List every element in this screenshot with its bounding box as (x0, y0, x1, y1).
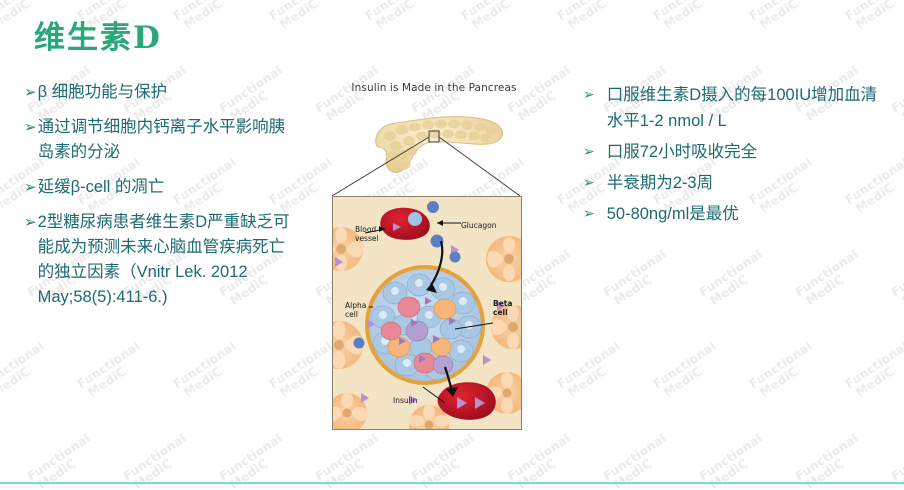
watermark-text: FunctionalMediC (555, 0, 629, 33)
bullet-text: 口服72小时吸收完全 (607, 139, 883, 165)
bullet-text: 2型糖尿病患者维生素D严重缺乏可能成为预测未来心脑血管疾病死亡的独立因素（Vni… (38, 210, 294, 310)
label-blood-vessel: Blood vessel (355, 225, 379, 243)
label-insulin: Insulin (393, 396, 418, 405)
watermark-text: FunctionalMediC (793, 248, 867, 309)
right-bullet-column: ➢ 口服维生素D摄入的每100IU增加血清水平1-2 nmol / L ➢ 口服… (583, 82, 883, 232)
list-item: ➢ 口服维生素D摄入的每100IU增加血清水平1-2 nmol / L (583, 82, 883, 134)
pancreas-figure: Insulin is Made in the Pancreas (318, 82, 550, 434)
bullet-text: 50-80ng/ml是最优 (607, 201, 883, 227)
arrow-bullet-icon: ➢ (583, 201, 595, 227)
arrow-bullet-icon: ➢ (583, 82, 595, 108)
watermark-text: FunctionalMediC (0, 340, 53, 401)
arrow-bullet-icon: ➢ (24, 80, 37, 105)
watermark-text: FunctionalMediC (651, 0, 725, 33)
list-item: ➢ 50-80ng/ml是最优 (583, 201, 883, 227)
bullet-text: 通过调节细胞内钙离子水平影响胰岛素的分泌 (38, 115, 294, 165)
list-item: ➢ 口服72小时吸收完全 (583, 139, 883, 165)
islet-inset-panel: Blood vessel Glucagon Beta cell Alpha ce… (332, 196, 522, 430)
watermark-text: FunctionalMediC (747, 340, 821, 401)
watermark-text: FunctionalMediC (697, 248, 771, 309)
footer-divider (0, 482, 904, 484)
watermark-text: FunctionalMediC (363, 0, 437, 33)
label-glucagon: Glucagon (461, 221, 496, 230)
watermark-text: FunctionalMediC (459, 0, 533, 33)
label-beta-cell: Beta cell (493, 299, 512, 317)
left-bullet-column: ➢ β 细胞功能与保护 ➢ 通过调节细胞内钙离子水平影响胰岛素的分泌 ➢ 延缓β… (24, 80, 294, 320)
watermark-text: FunctionalMediC (555, 340, 629, 401)
list-item: ➢ 通过调节细胞内钙离子水平影响胰岛素的分泌 (24, 115, 294, 165)
watermark-text: FunctionalMediC (75, 340, 149, 401)
watermark-text: FunctionalMediC (889, 248, 904, 309)
slide-canvas: FunctionalMediCFunctionalMediCFunctional… (0, 0, 904, 490)
watermark-text: FunctionalMediC (601, 248, 675, 309)
watermark-text: FunctionalMediC (267, 0, 341, 33)
watermark-text: FunctionalMediC (651, 340, 725, 401)
list-item: ➢ β 细胞功能与保护 (24, 80, 294, 105)
arrow-bullet-icon: ➢ (24, 175, 37, 200)
arrow-bullet-icon: ➢ (24, 115, 37, 140)
bullet-text: 口服维生素D摄入的每100IU增加血清水平1-2 nmol / L (607, 82, 883, 134)
watermark-text: FunctionalMediC (171, 0, 245, 33)
watermark-text: FunctionalMediC (843, 0, 904, 33)
list-item: ➢ 2型糖尿病患者维生素D严重缺乏可能成为预测未来心脑血管疾病死亡的独立因素（V… (24, 210, 294, 310)
arrow-bullet-icon: ➢ (583, 170, 595, 196)
page-title: 维生素D (34, 12, 162, 57)
list-item: ➢ 延缓β-cell 的凋亡 (24, 175, 294, 200)
list-item: ➢ 半衰期为2-3周 (583, 170, 883, 196)
bullet-text: 延缓β-cell 的凋亡 (38, 175, 294, 200)
bullet-text: 半衰期为2-3周 (607, 170, 883, 196)
bullet-text: β 细胞功能与保护 (38, 80, 294, 105)
label-alpha-cell: Alpha cell (345, 301, 366, 319)
watermark-text: FunctionalMediC (171, 340, 245, 401)
watermark-text: FunctionalMediC (843, 340, 904, 401)
arrow-bullet-icon: ➢ (24, 210, 37, 235)
watermark-text: FunctionalMediC (747, 0, 821, 33)
watermark-text: FunctionalMediC (889, 64, 904, 125)
arrow-bullet-icon: ➢ (583, 139, 595, 165)
